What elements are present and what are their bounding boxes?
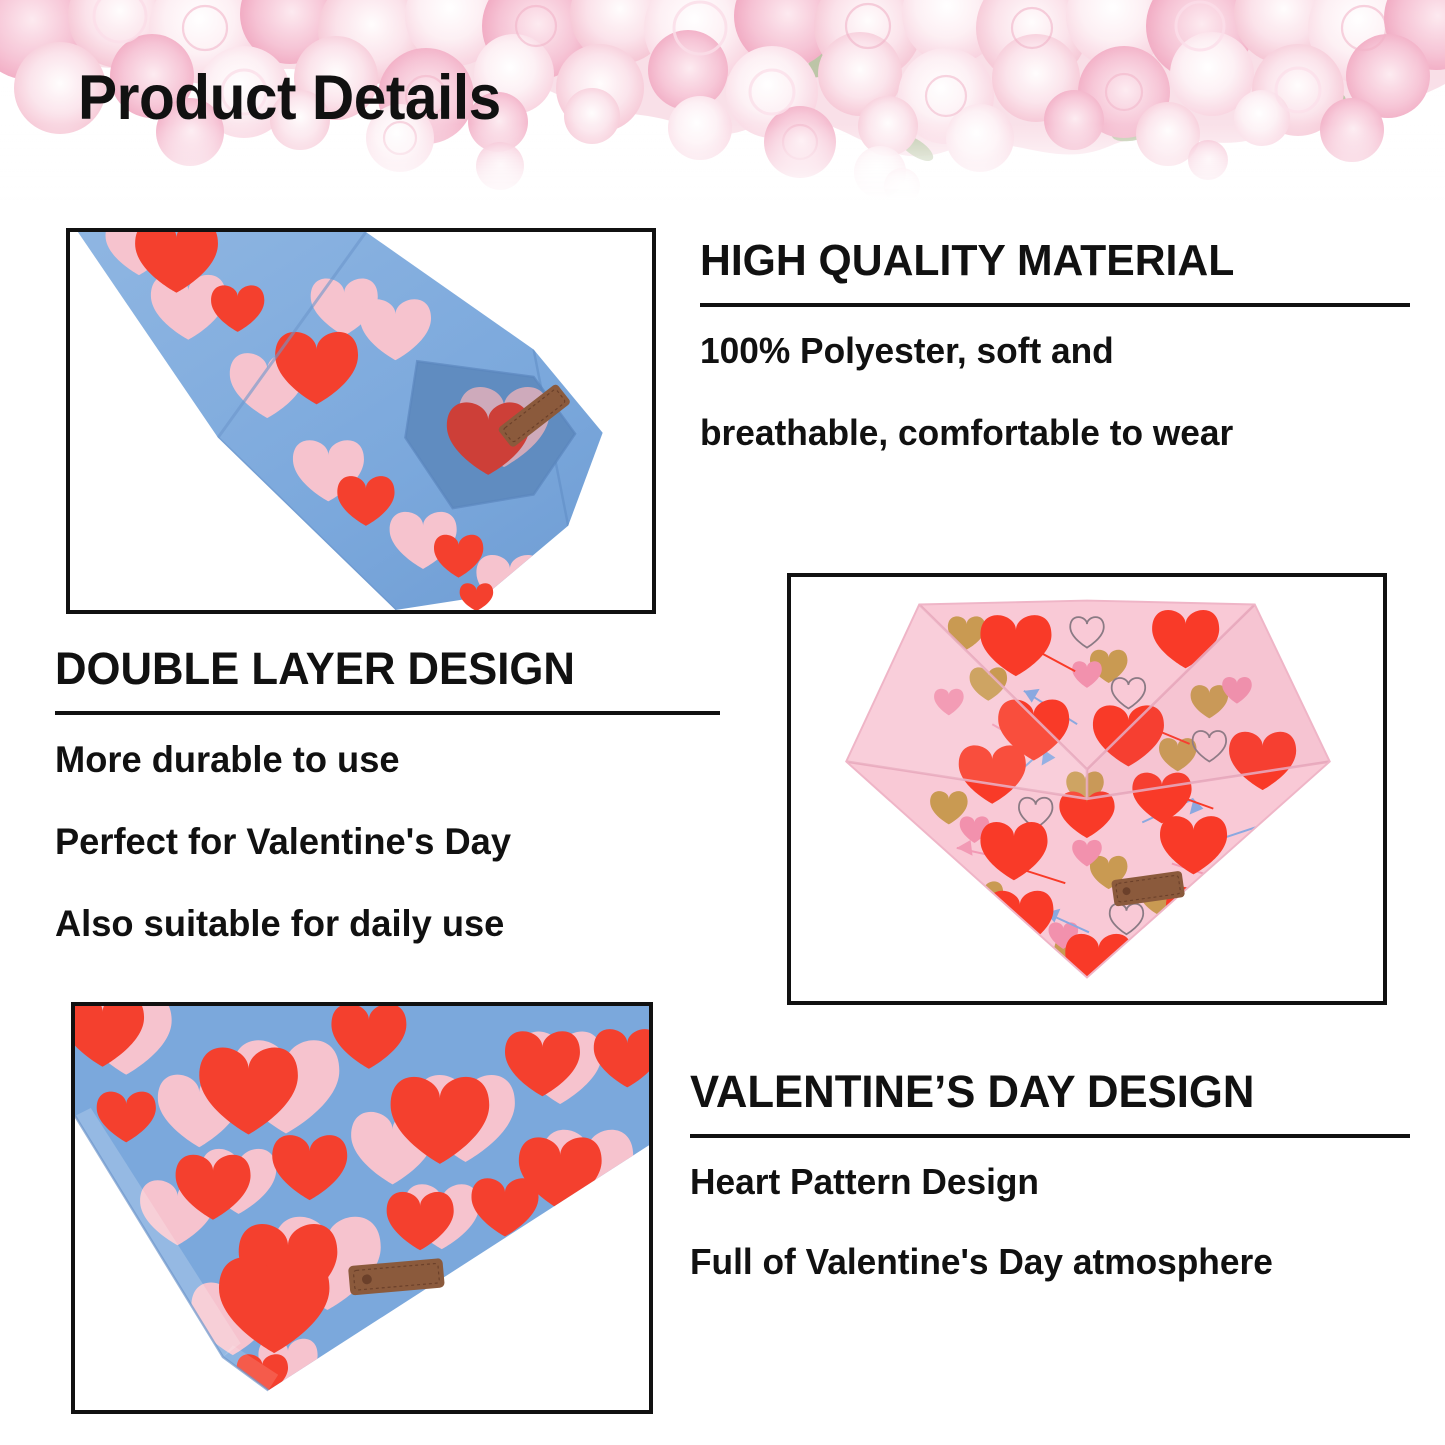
- feature-heading-valentine: VALENTINE’S DAY DESIGN: [690, 1068, 1388, 1115]
- feature-divider-valentine: [690, 1134, 1410, 1138]
- feature-heading-double-layer: DOUBLE LAYER DESIGN: [55, 645, 700, 692]
- feature-line: Perfect for Valentine's Day: [55, 823, 707, 860]
- feature-divider-double-layer: [55, 711, 720, 715]
- photo-folded-bandana-double-layer: [66, 228, 656, 614]
- pink-bandana-illustration: [791, 577, 1383, 1001]
- feature-line: Full of Valentine's Day atmosphere: [690, 1244, 1396, 1280]
- feature-heading-material: HIGH QUALITY MATERIAL: [700, 238, 1389, 284]
- feature-line: Also suitable for daily use: [55, 905, 707, 942]
- blue-bandana-illustration: [75, 1006, 649, 1410]
- feature-block-material: HIGH QUALITY MATERIAL 100% Polyester, so…: [700, 238, 1410, 497]
- product-details-page: Product Details: [0, 0, 1445, 1445]
- feature-line: Heart Pattern Design: [690, 1164, 1396, 1200]
- page-title: Product Details: [78, 62, 501, 134]
- folded-bandana-illustration: [70, 232, 652, 610]
- feature-block-double-layer: DOUBLE LAYER DESIGN More durable to use …: [55, 645, 720, 987]
- feature-line: breathable, comfortable to wear: [700, 415, 1396, 451]
- feature-body-material: 100% Polyester, soft and breathable, com…: [700, 333, 1410, 451]
- photo-blue-bandana-corner: [71, 1002, 653, 1414]
- photo-pink-bandana-folded: [787, 573, 1387, 1005]
- feature-block-valentine: VALENTINE’S DAY DESIGN Heart Pattern Des…: [690, 1068, 1410, 1324]
- feature-divider-material: [700, 303, 1410, 307]
- feature-line: More durable to use: [55, 741, 707, 778]
- feature-line: 100% Polyester, soft and: [700, 333, 1396, 369]
- feature-body-double-layer: More durable to use Perfect for Valentin…: [55, 741, 720, 942]
- feature-body-valentine: Heart Pattern Design Full of Valentine's…: [690, 1164, 1410, 1280]
